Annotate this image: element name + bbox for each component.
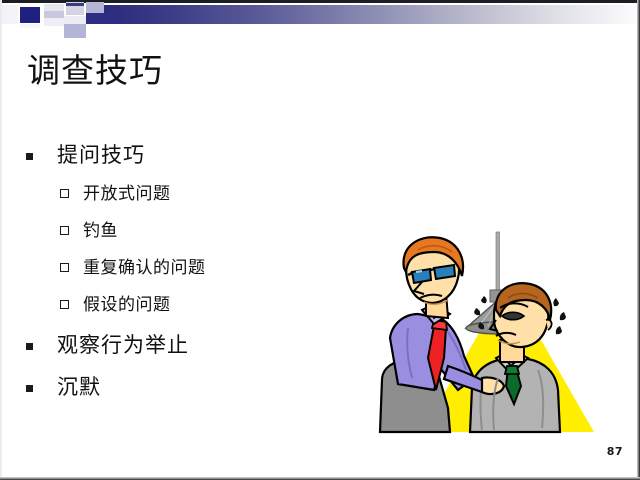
- list-item-label: 沉默: [57, 375, 101, 399]
- page-title: 调查技巧: [27, 50, 163, 92]
- list-item: 观察行为举止: [0, 324, 400, 366]
- sunglasses-bridge: [430, 269, 435, 270]
- list-item-label: 钓鱼: [83, 221, 118, 241]
- sweat-drop-2: [474, 308, 480, 315]
- list-item: 钓鱼: [0, 213, 400, 250]
- header-pixel-block-7: [44, 18, 64, 26]
- header-pixel-block-10: [66, 3, 84, 6]
- header-pixel-block-11: [86, 13, 120, 24]
- list-item: 沉默: [0, 366, 400, 408]
- sweat-drop-1: [481, 296, 487, 303]
- slide: 调查技巧 提问技巧 开放式问题 钓鱼 重复确认的问题 假设的问题 观察行为举止: [0, 0, 640, 480]
- sweat-drop-4: [553, 298, 559, 306]
- list-item: 假设的问题: [0, 287, 400, 324]
- hollow-square-bullet-icon: [60, 300, 69, 309]
- sweat-drop-5: [560, 312, 566, 320]
- list-item-label: 假设的问题: [83, 295, 171, 315]
- list-item-label: 提问技巧: [57, 143, 145, 167]
- hollow-square-bullet-icon: [60, 263, 69, 272]
- header-pixel-block-1: [0, 5, 18, 24]
- sweat-drop-6: [556, 326, 562, 334]
- list-item-label: 观察行为举止: [57, 333, 189, 357]
- filled-square-bullet-icon: [26, 153, 33, 160]
- sunglasses-right-lens: [434, 265, 455, 279]
- header-pixel-block-9: [20, 24, 40, 28]
- filled-square-bullet-icon: [26, 385, 33, 392]
- hollow-square-bullet-icon: [60, 226, 69, 235]
- header-pixel-block-2: [44, 4, 64, 11]
- header-pixel-block-accent: [20, 7, 40, 23]
- header-pixel-block-3: [44, 11, 64, 18]
- lamp-cord: [496, 232, 500, 294]
- list-item: 提问技巧: [0, 134, 400, 176]
- list-item: 开放式问题: [0, 176, 400, 213]
- interrogation-scene-clipart: [378, 228, 640, 438]
- bullet-list: 提问技巧 开放式问题 钓鱼 重复确认的问题 假设的问题 观察行为举止 沉默: [0, 134, 400, 408]
- subject-tie-knot: [505, 366, 519, 374]
- header-pixel-block-8: [64, 24, 86, 38]
- list-item-label: 重复确认的问题: [83, 258, 206, 278]
- sunglasses-glare: [416, 271, 422, 272]
- header-gradient-bar: [104, 5, 640, 24]
- subject-eye: [502, 312, 524, 320]
- list-item-label: 开放式问题: [83, 184, 171, 204]
- slide-left-edge: [0, 0, 2, 480]
- hollow-square-bullet-icon: [60, 189, 69, 198]
- slide-header-decoration: [0, 0, 640, 36]
- filled-square-bullet-icon: [26, 343, 33, 350]
- list-item: 重复确认的问题: [0, 250, 400, 287]
- page-number: 87: [607, 445, 623, 458]
